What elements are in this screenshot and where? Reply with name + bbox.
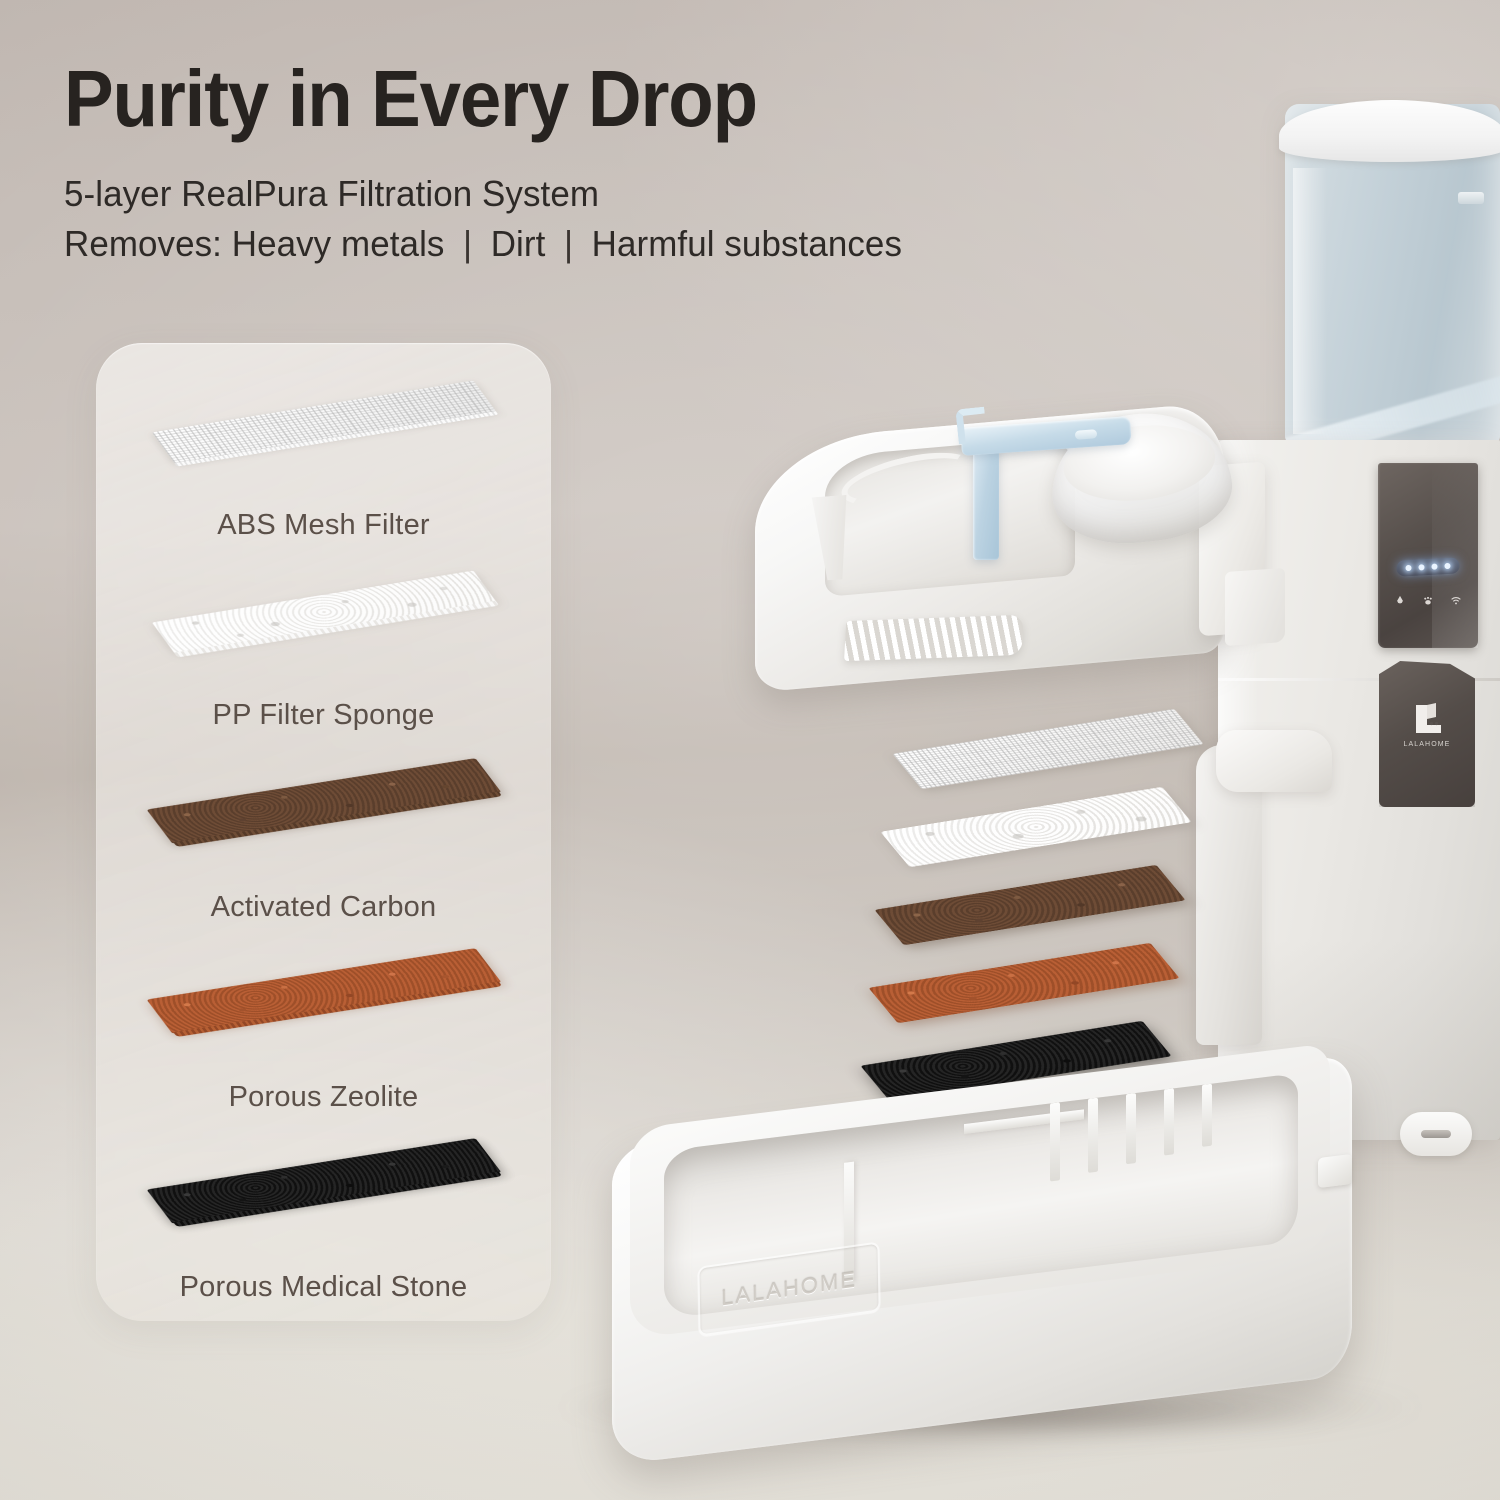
led-indicator-3 bbox=[1431, 564, 1437, 570]
filter-layer-item-3: Porous Zeolite bbox=[96, 945, 551, 1114]
sponge-slab-shape bbox=[151, 570, 495, 653]
exploded-layer-abs-mesh bbox=[898, 706, 1198, 792]
filter-layer-item-2: Activated Carbon bbox=[96, 755, 551, 924]
usb-c-port bbox=[1400, 1112, 1472, 1156]
blue-lever-notch bbox=[1075, 429, 1098, 440]
exploded-layer-porous-zeolite bbox=[874, 940, 1174, 1026]
abs-mesh-filter-illustration bbox=[96, 375, 551, 467]
filter-layer-label-4: Porous Medical Stone bbox=[96, 1271, 551, 1304]
stone-granule-bed bbox=[146, 1138, 501, 1224]
filter-layer-item-4: Porous Medical Stone bbox=[96, 1135, 551, 1304]
base-divider-2 bbox=[964, 1109, 1084, 1134]
exploded-layer-pp-sponge bbox=[886, 784, 1186, 870]
base-fin-4 bbox=[1164, 1088, 1174, 1155]
base-fin-3 bbox=[1126, 1093, 1136, 1164]
removes-item-1: Dirt bbox=[491, 223, 546, 264]
activated-carbon-illustration bbox=[96, 755, 551, 847]
zeolite-granule-bed bbox=[146, 948, 501, 1034]
removes-prefix: Removes: bbox=[64, 223, 222, 264]
top-cover-wing-lower bbox=[1225, 568, 1285, 646]
water-tank-rim bbox=[1279, 100, 1500, 162]
led-indicator-2 bbox=[1418, 564, 1424, 570]
top-cover-ribs bbox=[844, 615, 1024, 661]
exploded-layer-activated-carbon bbox=[880, 862, 1180, 948]
blue-lever-post bbox=[973, 444, 999, 560]
droplet-icon[interactable] bbox=[1395, 595, 1406, 606]
control-icon-row bbox=[1395, 595, 1462, 606]
wifi-icon[interactable] bbox=[1451, 595, 1462, 606]
led-indicator-group bbox=[1396, 557, 1460, 576]
base-fin-5 bbox=[1202, 1084, 1212, 1147]
filter-layers-panel: ABS Mesh Filter PP Filter Sponge Activat… bbox=[96, 343, 551, 1321]
separator-2: | bbox=[555, 223, 582, 264]
filter-layer-label-1: PP Filter Sponge bbox=[96, 699, 551, 732]
subtitle-line-2: Removes: Heavy metals | Dirt | Harmful s… bbox=[64, 219, 1034, 269]
pet-icon[interactable] bbox=[1423, 595, 1434, 606]
carbon-granule-bed bbox=[146, 758, 501, 844]
base-emboss-text: LALAHOME bbox=[700, 1264, 878, 1315]
lalahome-logo-icon bbox=[1407, 699, 1447, 739]
subtitle-line-1: 5-layer RealPura Filtration System bbox=[64, 169, 1034, 219]
pp-filter-sponge-illustration bbox=[96, 565, 551, 657]
brand-logo-plate: LALAHOME bbox=[1379, 661, 1475, 807]
base-side-tab bbox=[1318, 1154, 1352, 1188]
led-indicator-4 bbox=[1444, 563, 1450, 569]
led-indicator-1 bbox=[1405, 565, 1411, 571]
top-cover-assembly bbox=[745, 400, 1305, 700]
filter-layer-label-0: ABS Mesh Filter bbox=[96, 509, 551, 542]
page-title: Purity in Every Drop bbox=[64, 56, 994, 142]
removes-item-0: Heavy metals bbox=[232, 223, 445, 264]
removes-item-2: Harmful substances bbox=[592, 223, 902, 264]
blue-lever-hook bbox=[955, 407, 987, 445]
mesh-slab-shape bbox=[151, 380, 495, 463]
porous-zeolite-illustration bbox=[96, 945, 551, 1037]
base-fin-1 bbox=[1050, 1102, 1060, 1181]
control-panel[interactable] bbox=[1378, 463, 1478, 648]
filter-layer-label-2: Activated Carbon bbox=[96, 891, 551, 924]
filter-layer-label-3: Porous Zeolite bbox=[96, 1081, 551, 1114]
tank-clip bbox=[1458, 192, 1484, 204]
rear-support-arm bbox=[1216, 730, 1332, 792]
porous-medical-stone-illustration bbox=[96, 1135, 551, 1227]
separator-1: | bbox=[454, 223, 481, 264]
base-fin-2 bbox=[1088, 1098, 1098, 1173]
headline-block: Purity in Every Drop 5-layer RealPura Fi… bbox=[64, 56, 1064, 269]
base-bowl: LALAHOME bbox=[612, 1064, 1352, 1434]
filter-layer-item-1: PP Filter Sponge bbox=[96, 565, 551, 732]
brand-logo-wordmark: LALAHOME bbox=[1379, 741, 1475, 748]
filter-layer-item-0: ABS Mesh Filter bbox=[96, 375, 551, 542]
